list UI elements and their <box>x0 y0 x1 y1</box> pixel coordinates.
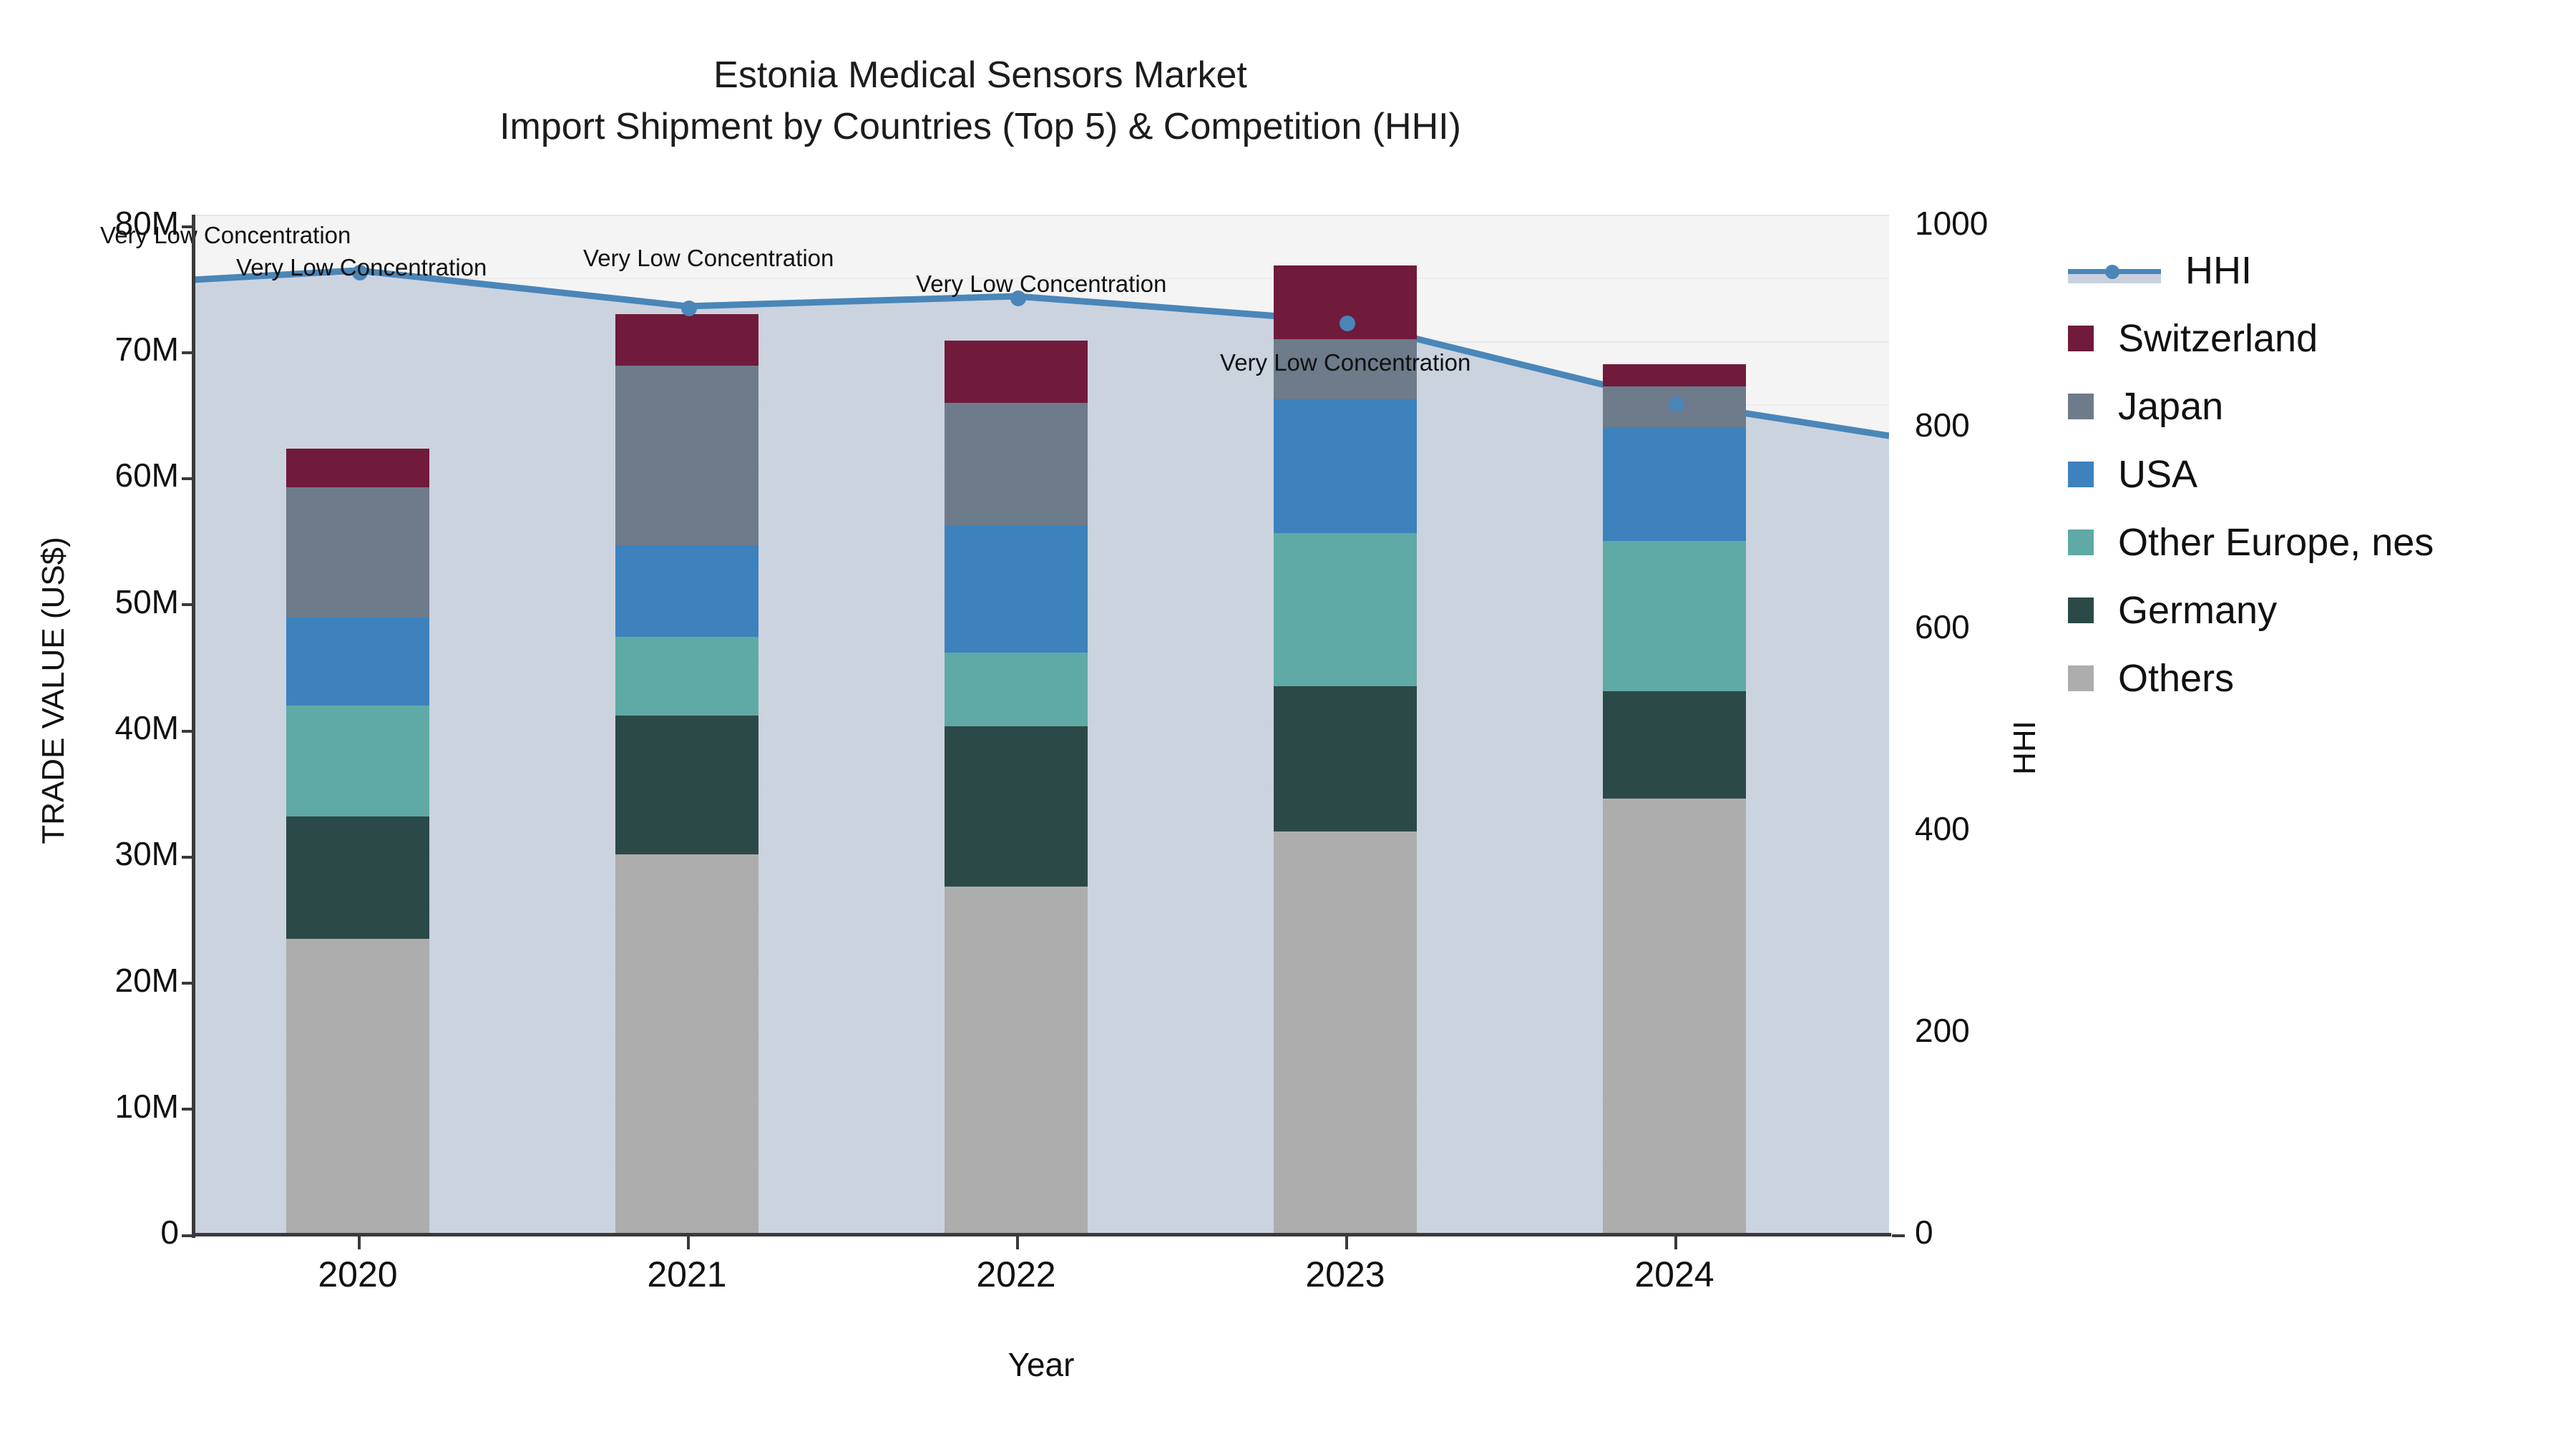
y-tickmark-left-10m <box>182 1108 195 1111</box>
bar-segment-othereurope-2020[interactable] <box>286 706 429 816</box>
legend-label-other-europe: Other Europe, nes <box>2118 520 2434 565</box>
y-tick-left-0: 0 <box>14 1213 179 1252</box>
legend-swatch-germany <box>2068 597 2094 623</box>
y-tickmark-left-20m <box>182 982 195 985</box>
chart-title-line-1: Estonia Medical Sensors Market <box>0 50 1961 102</box>
y-tick-left-20m: 20M <box>14 961 179 1000</box>
y-axis-left-title: TRADE VALUE (US$) <box>36 490 72 891</box>
legend-swatch-japan <box>2068 394 2094 419</box>
bar-segment-others-2024[interactable] <box>1603 799 1746 1234</box>
bar-2023[interactable] <box>1274 265 1417 1234</box>
legend-label-usa: USA <box>2118 452 2197 497</box>
bar-segment-others-2020[interactable] <box>286 939 429 1234</box>
y-tick-right-400: 400 <box>1915 809 2087 848</box>
x-axis-line <box>192 1233 1891 1236</box>
x-tickmark-2023 <box>1345 1236 1348 1249</box>
bar-segment-others-2022[interactable] <box>945 887 1088 1234</box>
x-tickmark-2022 <box>1016 1236 1019 1249</box>
legend-label-switzerland: Switzerland <box>2118 316 2318 361</box>
bar-segment-switzerland-2024[interactable] <box>1603 364 1746 386</box>
bar-segment-japan-2020[interactable] <box>286 487 429 618</box>
legend-swatch-usa <box>2068 462 2094 487</box>
legend-item-switzerland[interactable]: Switzerland <box>2068 304 2569 372</box>
bar-2021[interactable] <box>615 314 758 1234</box>
bar-2020[interactable] <box>286 449 429 1234</box>
hhi-marker-2024[interactable] <box>1669 396 1684 412</box>
bar-segment-germany-2020[interactable] <box>286 816 429 939</box>
y-axis-left-line <box>192 215 195 1238</box>
legend-label-germany: Germany <box>2118 588 2277 633</box>
x-tick-2023: 2023 <box>1202 1254 1488 1295</box>
hhi-marker-2021[interactable] <box>681 301 697 316</box>
x-tick-2021: 2021 <box>544 1254 830 1295</box>
bar-2022[interactable] <box>945 341 1088 1234</box>
bar-segment-usa-2022[interactable] <box>945 525 1088 653</box>
legend-item-japan[interactable]: Japan <box>2068 372 2569 440</box>
bar-segment-germany-2024[interactable] <box>1603 691 1746 799</box>
y-tickmark-left-40m <box>182 730 195 733</box>
bar-segment-japan-2022[interactable] <box>945 403 1088 525</box>
bar-segment-switzerland-2021[interactable] <box>615 314 758 366</box>
bar-segment-switzerland-2022[interactable] <box>945 341 1088 403</box>
legend-item-usa[interactable]: USA <box>2068 440 2569 508</box>
y-tickmark-left-60m <box>182 477 195 480</box>
bar-segment-usa-2023[interactable] <box>1274 399 1417 533</box>
y-tick-left-70m: 70M <box>14 330 179 369</box>
legend-swatch-others <box>2068 665 2094 691</box>
annotation-2023: Very Low Concentration <box>916 270 1166 298</box>
legend-line-icon <box>2068 258 2161 283</box>
legend-item-others[interactable]: Others <box>2068 644 2569 712</box>
x-tick-2024: 2024 <box>1531 1254 1818 1295</box>
x-tick-2022: 2022 <box>873 1254 1159 1295</box>
x-axis-title: Year <box>193 1345 1889 1384</box>
annotation-2024: Very Low Concentration <box>1220 349 1470 376</box>
bar-segment-others-2023[interactable] <box>1274 831 1417 1234</box>
y-tick-right-800: 800 <box>1915 406 2087 444</box>
bar-segment-usa-2020[interactable] <box>286 618 429 706</box>
y-tickmark-left-50m <box>182 603 195 606</box>
bar-segment-germany-2022[interactable] <box>945 726 1088 887</box>
y-tickmark-left-70m <box>182 351 195 354</box>
bar-2024[interactable] <box>1603 364 1746 1234</box>
chart-figure: Estonia Medical Sensors Market Import Sh… <box>0 0 2576 1449</box>
y-tickmark-left-80m <box>182 225 195 228</box>
bar-segment-othereurope-2024[interactable] <box>1603 541 1746 691</box>
legend-item-germany[interactable]: Germany <box>2068 576 2569 644</box>
chart-legend: HHI Switzerland Japan USA Other Europe, … <box>2068 236 2569 712</box>
bar-segment-germany-2021[interactable] <box>615 716 758 854</box>
hhi-marker-2023[interactable] <box>1340 316 1355 331</box>
bar-segment-usa-2021[interactable] <box>615 545 758 637</box>
y-tick-left-60m: 60M <box>14 456 179 494</box>
y-tick-left-10m: 10M <box>14 1087 179 1126</box>
x-tickmark-2020 <box>358 1236 361 1249</box>
annotation-2021: Very Low Concentration <box>236 254 487 281</box>
y-tick-right-0: 0 <box>1915 1213 2087 1252</box>
legend-label-hhi: HHI <box>2185 248 2252 293</box>
x-tickmark-2024 <box>1674 1236 1677 1249</box>
x-tickmark-2021 <box>687 1236 690 1249</box>
bar-segment-othereurope-2021[interactable] <box>615 637 758 716</box>
bar-segment-switzerland-2020[interactable] <box>286 449 429 487</box>
x-tick-2020: 2020 <box>215 1254 501 1295</box>
legend-item-other-europe[interactable]: Other Europe, nes <box>2068 508 2569 576</box>
bar-segment-othereurope-2022[interactable] <box>945 653 1088 726</box>
bar-segment-othereurope-2023[interactable] <box>1274 533 1417 686</box>
y-tickmark-left-0 <box>182 1234 195 1237</box>
bar-segment-japan-2021[interactable] <box>615 366 758 545</box>
legend-swatch-other-europe <box>2068 530 2094 555</box>
legend-label-japan: Japan <box>2118 384 2223 429</box>
legend-item-hhi[interactable]: HHI <box>2068 236 2569 304</box>
bar-segment-usa-2024[interactable] <box>1603 427 1746 541</box>
legend-label-others: Others <box>2118 656 2234 701</box>
chart-title-block: Estonia Medical Sensors Market Import Sh… <box>0 50 1961 153</box>
y-tick-left-80m: 80M <box>14 204 179 243</box>
legend-swatch-switzerland <box>2068 326 2094 351</box>
y-tickmark-right-0 <box>1892 1234 1905 1237</box>
bar-segment-germany-2023[interactable] <box>1274 686 1417 831</box>
y-axis-right-title: HHI <box>2007 655 2043 841</box>
plot-area: Very Low Concentration Very Low Concentr… <box>193 215 1889 1234</box>
annotation-2022: Very Low Concentration <box>583 245 834 272</box>
y-tick-right-1000: 1000 <box>1915 204 2087 243</box>
y-tick-right-200: 200 <box>1915 1011 2087 1050</box>
y-tickmark-left-30m <box>182 856 195 859</box>
bar-segment-others-2021[interactable] <box>615 854 758 1234</box>
chart-title-line-2: Import Shipment by Countries (Top 5) & C… <box>0 102 1961 153</box>
y-tick-right-600: 600 <box>1915 608 2087 646</box>
